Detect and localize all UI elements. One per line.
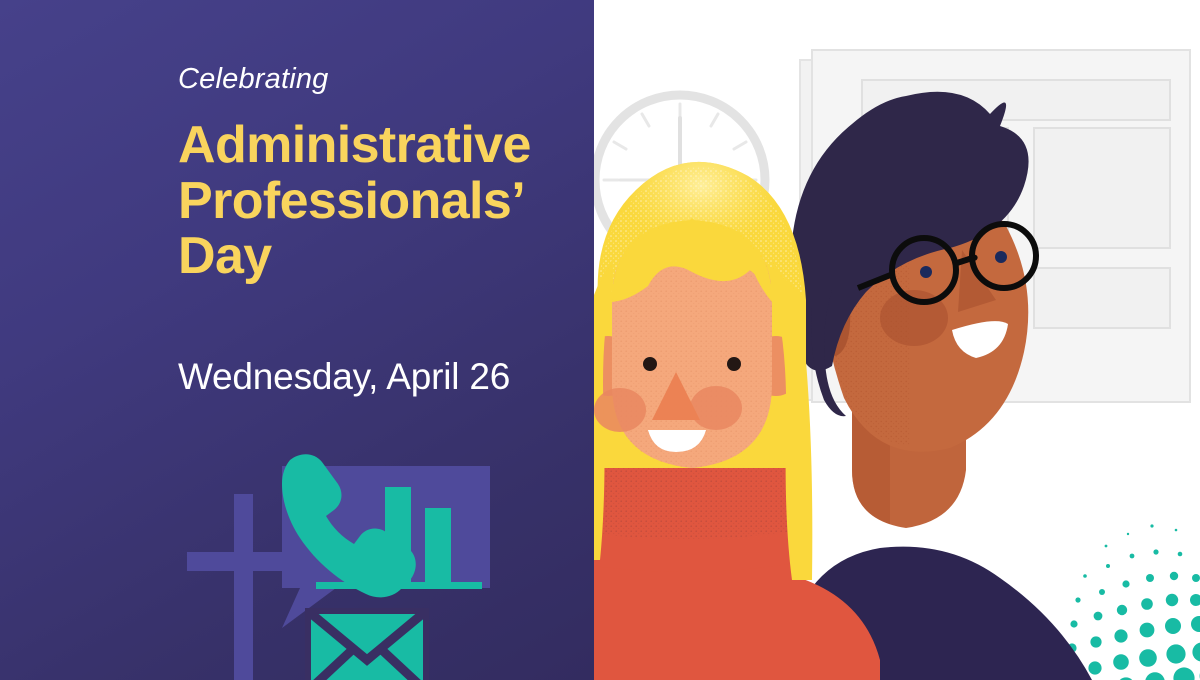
woman-eye-left <box>643 357 657 371</box>
woman-cheek-right <box>690 386 742 430</box>
date-text: Wednesday, April 26 <box>178 357 578 398</box>
page-title: Administrative Professionals’ Day <box>178 118 578 285</box>
man-eye-right <box>995 251 1007 263</box>
text-block: Celebrating Administrative Professionals… <box>178 64 578 397</box>
eyebrow-text: Celebrating <box>178 64 578 96</box>
woman-eye-right <box>727 357 741 371</box>
poster-canvas: Celebrating Administrative Professionals… <box>0 0 1200 680</box>
man-eye-left <box>920 266 932 278</box>
woman-cheek-left <box>594 388 646 432</box>
